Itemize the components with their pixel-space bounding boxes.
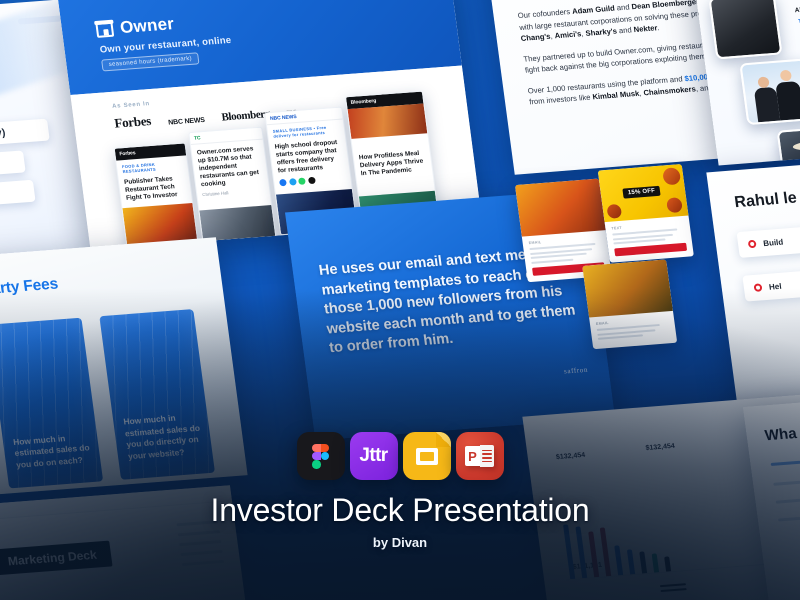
- powerpoint-letter: P: [465, 446, 480, 466]
- foreground-layer: Jttr P Investor Deck Presentation by Div…: [0, 0, 800, 600]
- jttr-label: Jttr: [359, 445, 387, 467]
- google-slides-icon[interactable]: [403, 432, 451, 480]
- slide-glyph: [416, 448, 438, 465]
- app-icon-row: Jttr P: [0, 432, 800, 480]
- page-fold: [436, 432, 451, 447]
- powerpoint-glyph: P: [465, 445, 494, 467]
- jttr-icon[interactable]: Jttr: [350, 432, 398, 480]
- page-author: by Divan: [0, 535, 800, 550]
- figma-glyph: [312, 444, 329, 469]
- figma-icon[interactable]: [297, 432, 345, 480]
- presentation-showcase: down to the penny) feedback party apps O…: [0, 0, 800, 600]
- page-title: Investor Deck Presentation: [0, 492, 800, 529]
- powerpoint-page: [480, 445, 494, 467]
- powerpoint-icon[interactable]: P: [456, 432, 504, 480]
- title-block: Investor Deck Presentation by Divan: [0, 492, 800, 550]
